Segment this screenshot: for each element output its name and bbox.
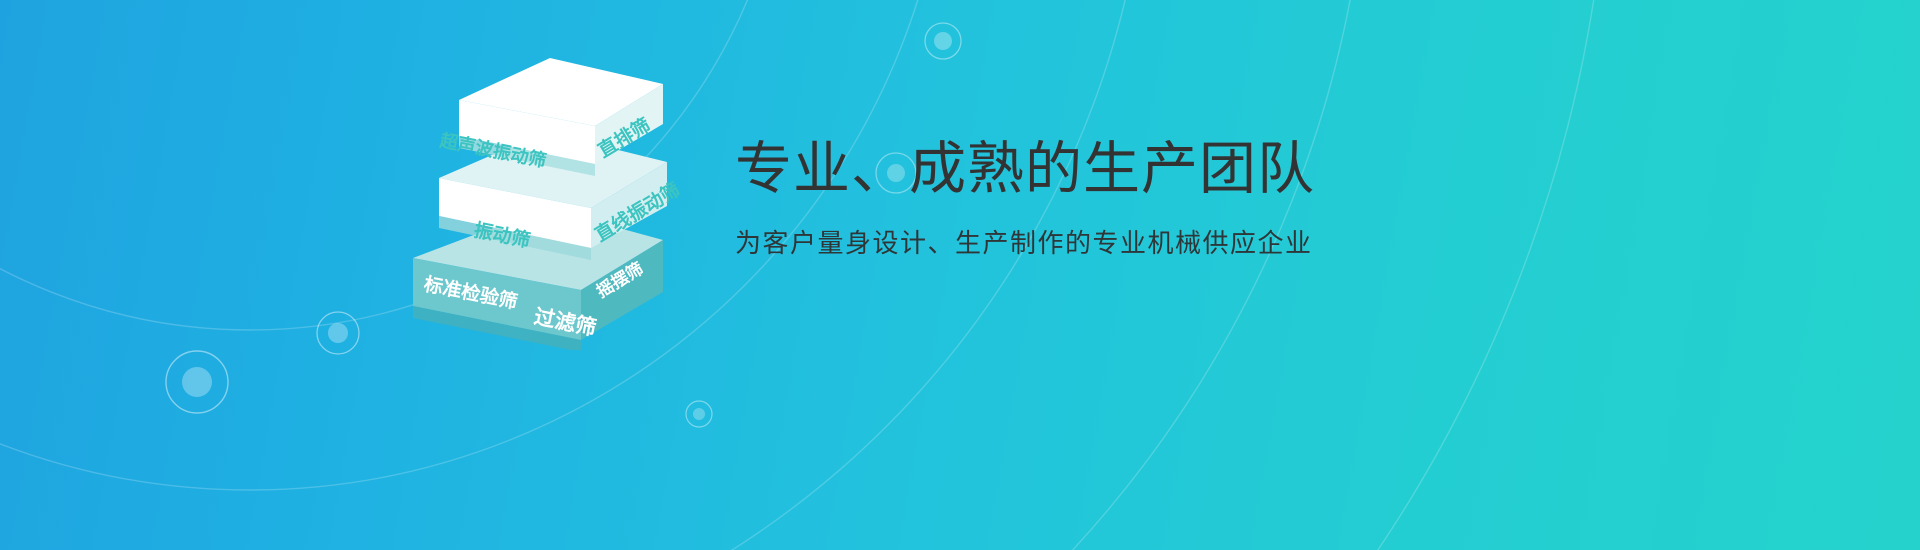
- banner-headline: 专业、成熟的生产团队: [735, 138, 1735, 202]
- hero-banner: .lbl { font-family: "Liberation Sans","D…: [0, 0, 1920, 550]
- banner-subheadline: 为客户量身设计、生产制作的专业机械供应企业: [735, 228, 1735, 259]
- decor-arc-5: [0, 0, 1610, 550]
- stacked-boxes-graphic: .lbl { font-family: "Liberation Sans","D…: [395, 40, 725, 350]
- decor-node: [686, 401, 712, 427]
- decor-node: [925, 23, 961, 59]
- decor-node: [166, 351, 228, 413]
- background-decoration: [0, 0, 1920, 550]
- decor-node: [317, 312, 359, 354]
- banner-copy: 专业、成熟的生产团队 为客户量身设计、生产制作的专业机械供应企业: [735, 138, 1735, 259]
